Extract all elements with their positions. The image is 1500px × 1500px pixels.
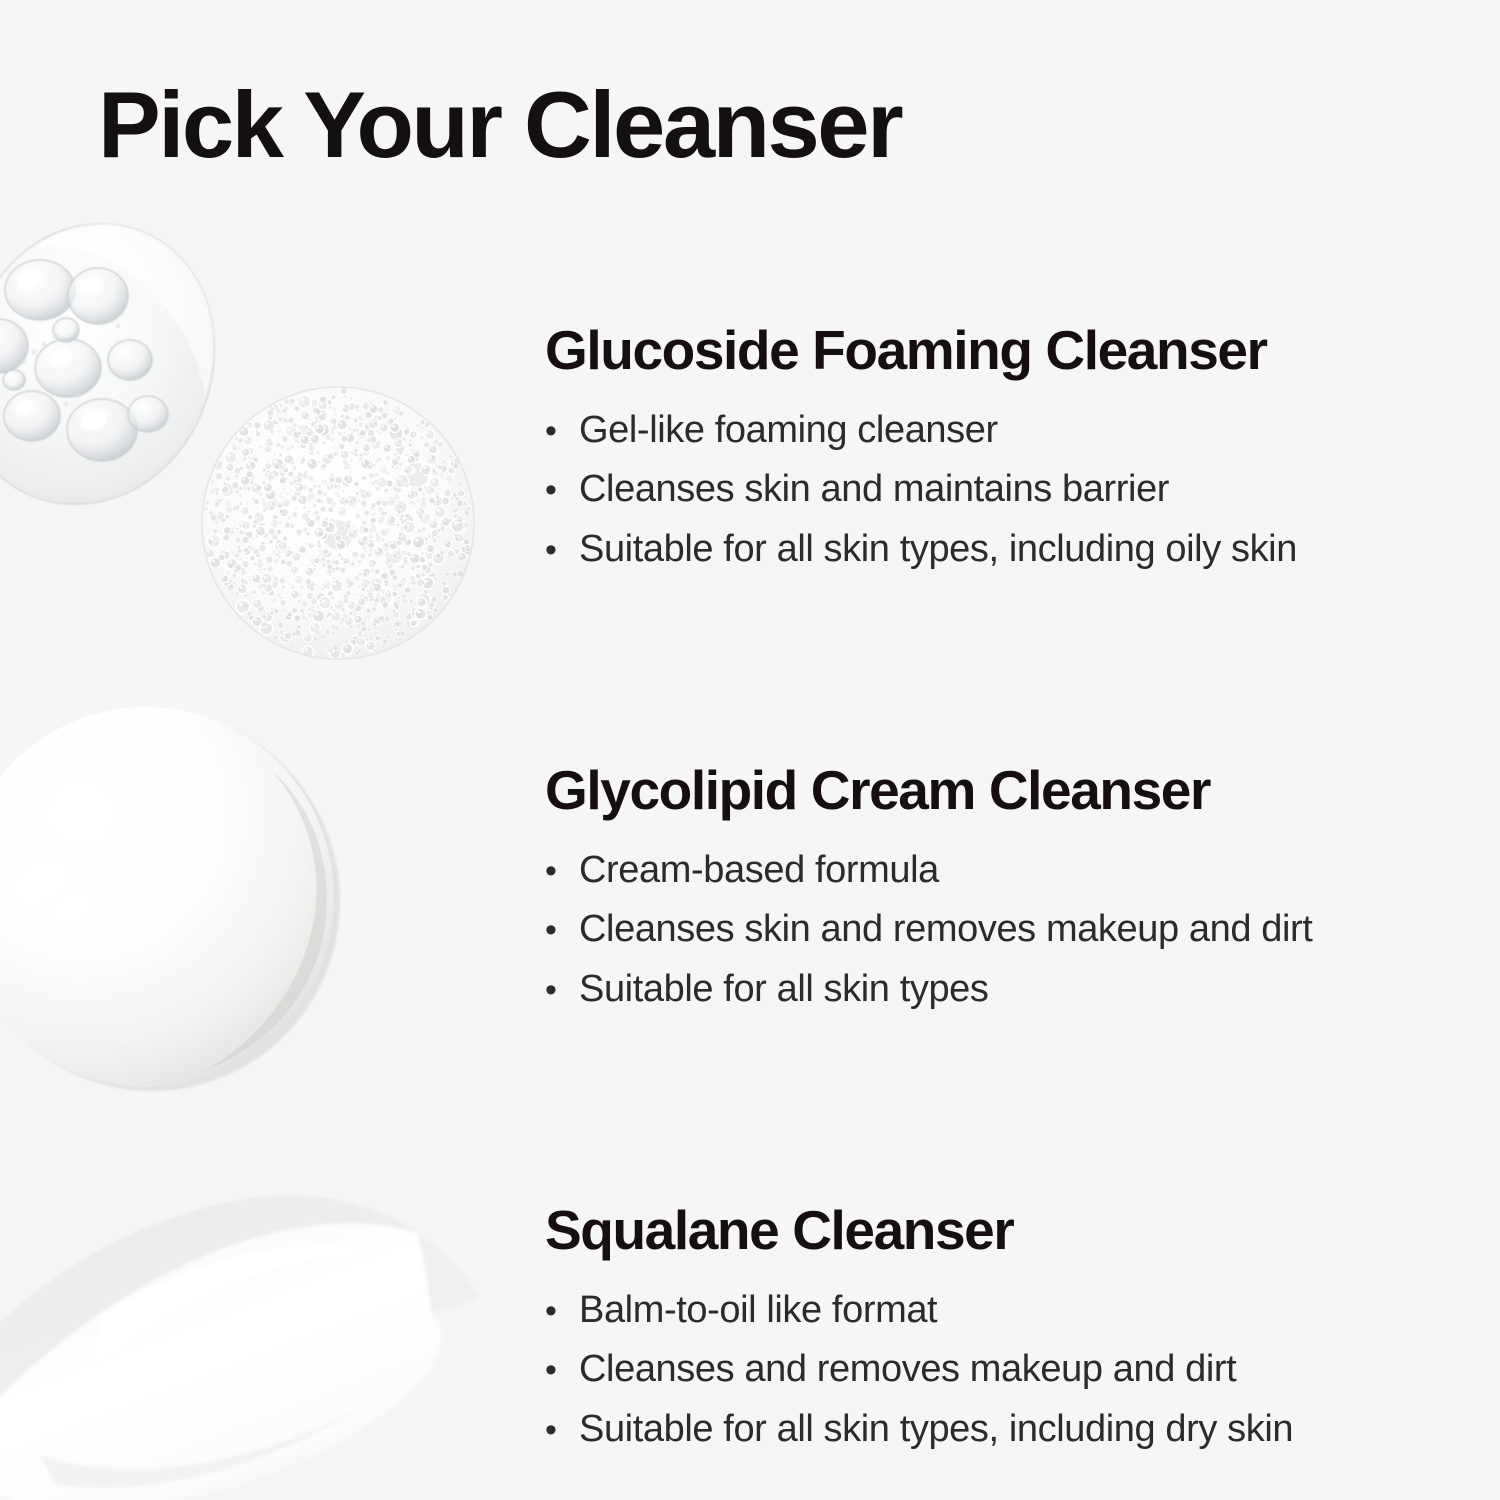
product-heading: Glycolipid Cream Cleanser bbox=[545, 762, 1445, 820]
bullet-dot-icon: • bbox=[545, 913, 579, 947]
bullet-item: • Gel-like foaming cleanser bbox=[545, 406, 1445, 455]
bullet-dot-icon: • bbox=[545, 1413, 579, 1447]
bullet-item: • Balm-to-oil like format bbox=[545, 1286, 1445, 1335]
bullet-item: • Suitable for all skin types, including… bbox=[545, 525, 1445, 574]
bullet-dot-icon: • bbox=[545, 414, 579, 448]
bullet-item: • Cleanses skin and removes makeup and d… bbox=[545, 905, 1445, 954]
white-cream-sphere-swatch bbox=[0, 697, 344, 1097]
clear-gel-blob-swatch bbox=[0, 218, 228, 513]
bullet-dot-icon: • bbox=[545, 533, 579, 567]
product-block-glucoside-foaming-cleanser: Glucoside Foaming Cleanser • Gel-like fo… bbox=[545, 322, 1445, 584]
product-block-glycolipid-cream-cleanser: Glycolipid Cream Cleanser • Cream-based … bbox=[545, 762, 1445, 1024]
bullet-label: Cleanses skin and removes makeup and dir… bbox=[579, 905, 1312, 954]
bullet-dot-icon: • bbox=[545, 973, 579, 1007]
bullet-dot-icon: • bbox=[545, 473, 579, 507]
bullet-label: Balm-to-oil like format bbox=[579, 1286, 937, 1335]
product-block-squalane-cleanser: Squalane Cleanser • Balm-to-oil like for… bbox=[545, 1202, 1445, 1464]
white-foam-circle-swatch bbox=[198, 383, 478, 663]
bullet-label: Gel-like foaming cleanser bbox=[579, 406, 998, 455]
product-bullet-list: • Cream-based formula • Cleanses skin an… bbox=[545, 846, 1445, 1014]
bullet-label: Suitable for all skin types, including o… bbox=[579, 525, 1297, 574]
bullet-dot-icon: • bbox=[545, 1353, 579, 1387]
page-title: Pick Your Cleanser bbox=[98, 78, 901, 172]
bullet-item: • Cleanses and removes makeup and dirt bbox=[545, 1345, 1445, 1394]
white-balm-smear-icon bbox=[0, 1155, 510, 1500]
product-bullet-list: • Gel-like foaming cleanser • Cleanses s… bbox=[545, 406, 1445, 574]
bullet-item: • Cleanses skin and maintains barrier bbox=[545, 465, 1445, 514]
product-heading: Squalane Cleanser bbox=[545, 1202, 1445, 1260]
bullet-dot-icon: • bbox=[545, 1294, 579, 1328]
bullet-item: • Suitable for all skin types bbox=[545, 965, 1445, 1014]
infographic-page: Pick Your Cleanser bbox=[0, 0, 1500, 1500]
white-foam-circle-icon bbox=[198, 383, 478, 663]
bullet-label: Cleanses and removes makeup and dirt bbox=[579, 1345, 1236, 1394]
bullet-label: Cleanses skin and maintains barrier bbox=[579, 465, 1169, 514]
bullet-item: • Cream-based formula bbox=[545, 846, 1445, 895]
white-cream-sphere-icon bbox=[0, 697, 344, 1097]
product-heading: Glucoside Foaming Cleanser bbox=[545, 322, 1445, 380]
bullet-label: Cream-based formula bbox=[579, 846, 939, 895]
product-bullet-list: • Balm-to-oil like format • Cleanses and… bbox=[545, 1286, 1445, 1454]
bullet-label: Suitable for all skin types, including d… bbox=[579, 1405, 1293, 1454]
clear-gel-blob-icon bbox=[0, 218, 228, 513]
bullet-dot-icon: • bbox=[545, 854, 579, 888]
white-balm-smear-swatch bbox=[0, 1155, 510, 1500]
bullet-item: • Suitable for all skin types, including… bbox=[545, 1405, 1445, 1454]
bullet-label: Suitable for all skin types bbox=[579, 965, 989, 1014]
